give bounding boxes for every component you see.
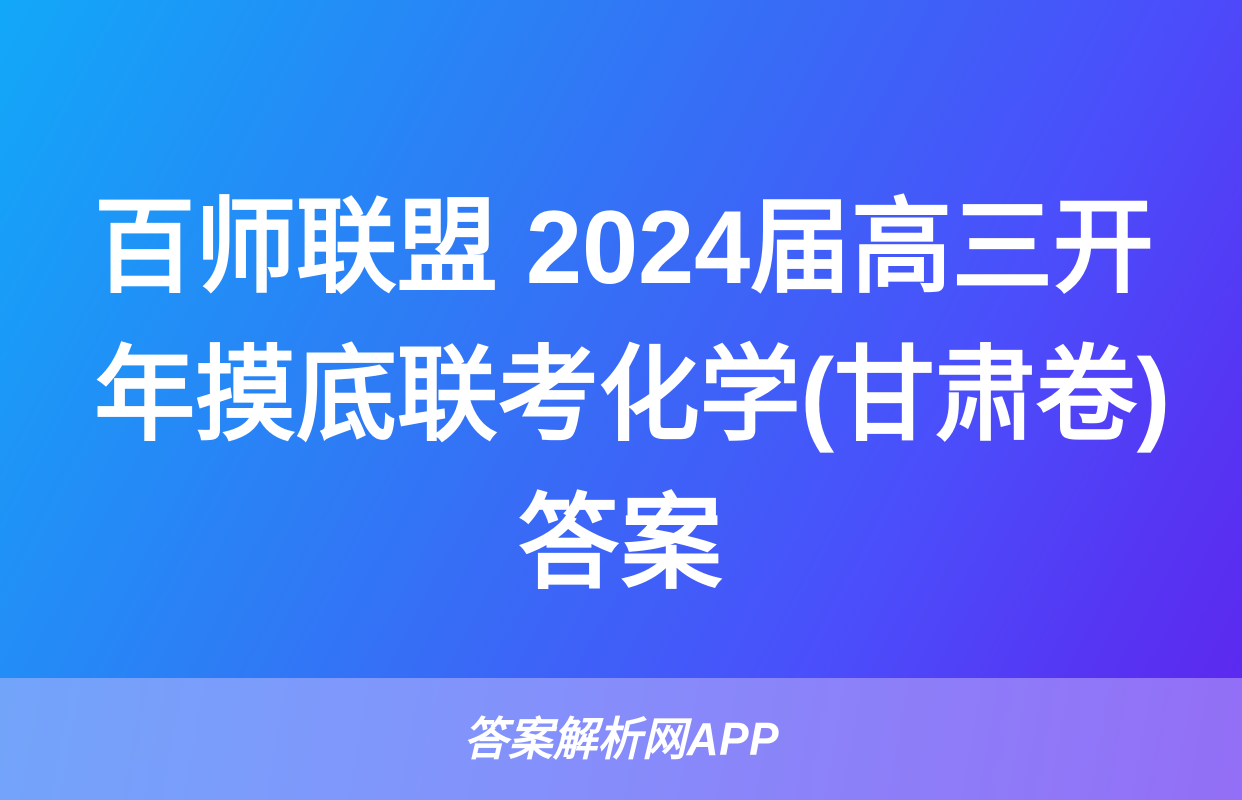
title-line-1: 百师联盟 2024届高三开 [94, 174, 1147, 322]
title-line-3: 答案 [94, 470, 1147, 618]
title-line-2: 年摸底联考化学(甘肃卷) [94, 322, 1147, 470]
footer-watermark-band: 答案解析网APP [0, 678, 1242, 800]
poster-card: 百师联盟 2024届高三开 年摸底联考化学(甘肃卷) 答案 答案解析网APP [0, 0, 1242, 800]
app-watermark-label: 答案解析网APP [463, 716, 778, 762]
poster-title: 百师联盟 2024届高三开 年摸底联考化学(甘肃卷) 答案 [0, 174, 1242, 618]
